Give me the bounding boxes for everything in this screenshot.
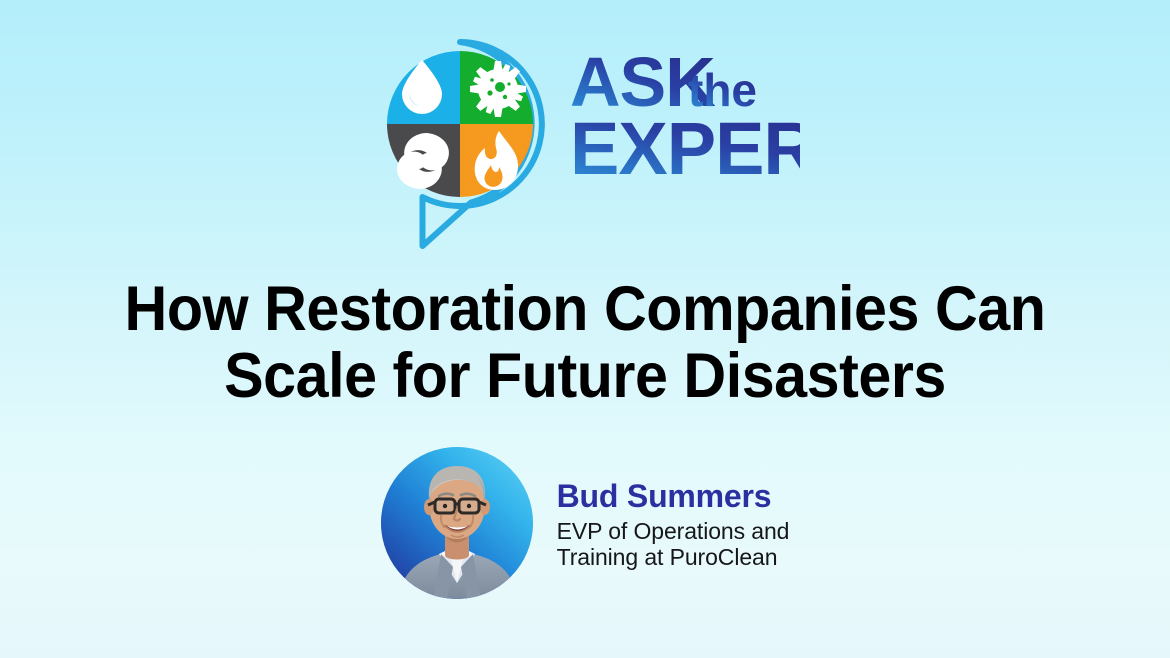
speaker-role-line-1: EVP of Operations and [557, 518, 790, 544]
speaker-block: Bud Summers EVP of Operations and Traini… [0, 447, 1170, 599]
speaker-info: Bud Summers EVP of Operations and Traini… [557, 477, 790, 570]
title-line-1: How Restoration Companies Can [73, 276, 1098, 343]
title-line-2: Scale for Future Disasters [73, 343, 1098, 410]
slide-title: How Restoration Companies Can Scale for … [0, 276, 1170, 410]
wordmark-expert: EXPERT [570, 107, 800, 190]
logo-lockup: ASK the EXPERT [0, 34, 1170, 256]
speaker-role-line-2: Training at PuroClean [557, 544, 790, 570]
ask-the-expert-wordmark: ASK the EXPERT [570, 48, 800, 208]
ask-the-expert-logo-mark [370, 34, 550, 256]
speaker-role: EVP of Operations and Training at PuroCl… [557, 518, 790, 570]
avatar [381, 447, 533, 599]
portrait-illustration [381, 447, 533, 599]
ask-the-expert-slide: ASK the EXPERT How Restoration Companies… [0, 0, 1170, 658]
speaker-name: Bud Summers [557, 477, 790, 515]
